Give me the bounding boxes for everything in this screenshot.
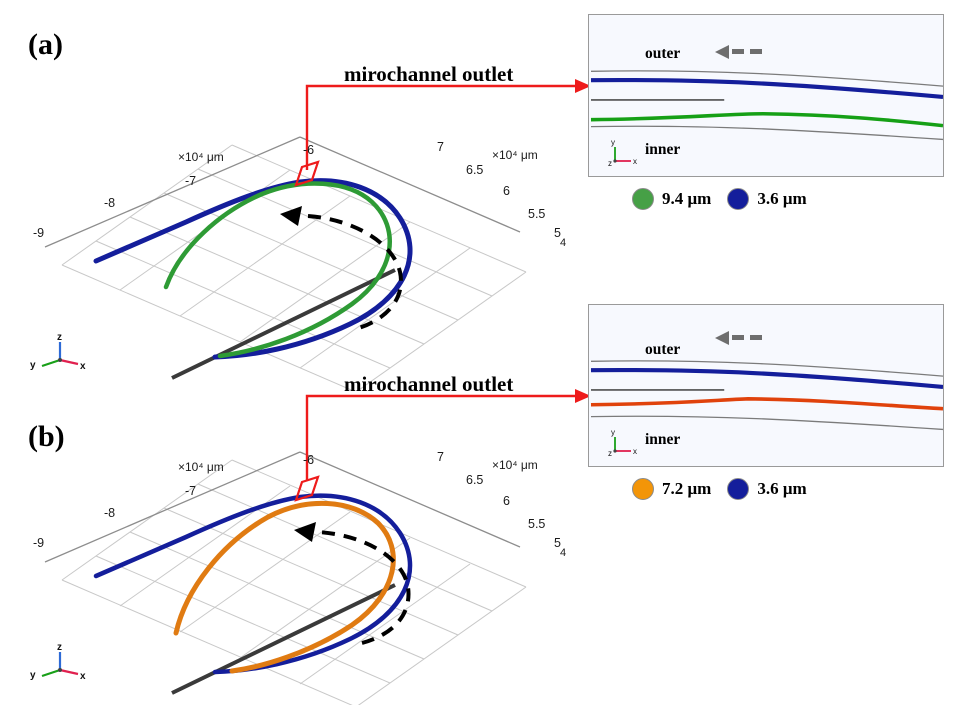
tick-left-a-0: -9 <box>33 226 44 240</box>
tick-right-a-1: 6.5 <box>466 163 483 177</box>
axis-unit-right-a-text: ×10⁴ μm <box>492 148 538 162</box>
legend-swatch-green-icon <box>632 188 654 210</box>
inset-panel-a: outer inner y x z <box>588 14 944 177</box>
callout-label-b: mirochannel outlet <box>344 372 513 397</box>
legend-swatch-blue-icon <box>727 188 749 210</box>
trajectory-green-a <box>166 184 390 356</box>
tick-right-a-2: 6 <box>503 184 510 198</box>
tick-right-a-0: 7 <box>437 140 444 154</box>
axis-triad-b: z y x <box>24 640 94 688</box>
axis-unit-left-a-text: ×10⁴ μm <box>178 150 224 164</box>
callout-leader-a <box>295 78 595 173</box>
tick-left-b-2: -7 <box>185 484 196 498</box>
svg-text:x: x <box>633 447 637 456</box>
axis-edge-dark-b <box>172 585 395 693</box>
tick-right-b-0: 7 <box>437 450 444 464</box>
svg-text:x: x <box>80 671 86 682</box>
legend-label-b-1: 3.6 μm <box>757 479 806 499</box>
trajectory-blue-a <box>96 181 410 357</box>
legend-item-a-0: 9.4 μm <box>632 188 711 210</box>
tick-right-a-3: 5.5 <box>528 207 545 221</box>
trajectory-blue-b <box>96 496 410 672</box>
tick-left-a-2: -7 <box>185 174 196 188</box>
tick-left-b-0: -9 <box>33 536 44 550</box>
inset-outer-label-b: outer <box>645 341 680 359</box>
axis-unit-right-b: ×10⁴ μm <box>492 458 538 472</box>
legend-label-b-0: 7.2 μm <box>662 479 711 499</box>
legend-item-a-1: 3.6 μm <box>727 188 806 210</box>
svg-text:z: z <box>57 642 62 653</box>
tick-left-b-3: -6 <box>303 453 314 467</box>
svg-text:y: y <box>611 428 615 437</box>
svg-text:z: z <box>57 332 62 343</box>
rotation-arrowhead-b <box>294 522 316 542</box>
svg-text:z: z <box>608 159 612 168</box>
legend-b: 7.2 μm 3.6 μm <box>632 478 807 500</box>
legend-item-b-0: 7.2 μm <box>632 478 711 500</box>
tick-right-b-2: 6 <box>503 494 510 508</box>
flow-direction-arrow-b <box>713 327 775 349</box>
legend-a: 9.4 μm 3.6 μm <box>632 188 807 210</box>
svg-text:y: y <box>30 360 36 371</box>
legend-item-b-1: 3.6 μm <box>727 478 806 500</box>
tick-left-a-1: -8 <box>104 196 115 210</box>
tick-right-a-5: 4 <box>560 237 566 249</box>
axis-unit-right-b-text: ×10⁴ μm <box>492 458 538 472</box>
svg-text:x: x <box>633 157 637 166</box>
axis-triad-a: z y x <box>24 330 94 378</box>
axis-unit-left-b: ×10⁴ μm <box>178 460 224 474</box>
tick-left-b-1: -8 <box>104 506 115 520</box>
inset-axis-triad-a: y x z <box>599 133 645 171</box>
panel-label-a: (a) <box>28 28 63 62</box>
inset-axis-triad-b: y x z <box>599 423 645 461</box>
svg-text:x: x <box>80 361 86 372</box>
tick-right-b-3: 5.5 <box>528 517 545 531</box>
flow-direction-arrow-a <box>713 41 775 63</box>
axis-unit-right-a: ×10⁴ μm <box>492 148 538 162</box>
tick-right-b-5: 4 <box>560 547 566 559</box>
inset-outer-label-a: outer <box>645 45 680 63</box>
callout-leader-b <box>295 388 595 483</box>
legend-label-a-0: 9.4 μm <box>662 189 711 209</box>
inset-panel-b: outer inner y x z <box>588 304 944 467</box>
tick-right-b-1: 6.5 <box>466 473 483 487</box>
inset-inner-label-a: inner <box>645 141 680 159</box>
axis-unit-left-b-text: ×10⁴ μm <box>178 460 224 474</box>
svg-text:y: y <box>30 670 36 681</box>
inset-inner-label-b: inner <box>645 431 680 449</box>
axis-unit-left-a: ×10⁴ μm <box>178 150 224 164</box>
legend-swatch-blue-icon-b <box>727 478 749 500</box>
legend-swatch-orange-icon <box>632 478 654 500</box>
svg-text:z: z <box>608 449 612 458</box>
callout-label-a: mirochannel outlet <box>344 62 513 87</box>
legend-label-a-1: 3.6 μm <box>757 189 806 209</box>
svg-text:y: y <box>611 138 615 147</box>
tick-left-a-3: -6 <box>303 143 314 157</box>
